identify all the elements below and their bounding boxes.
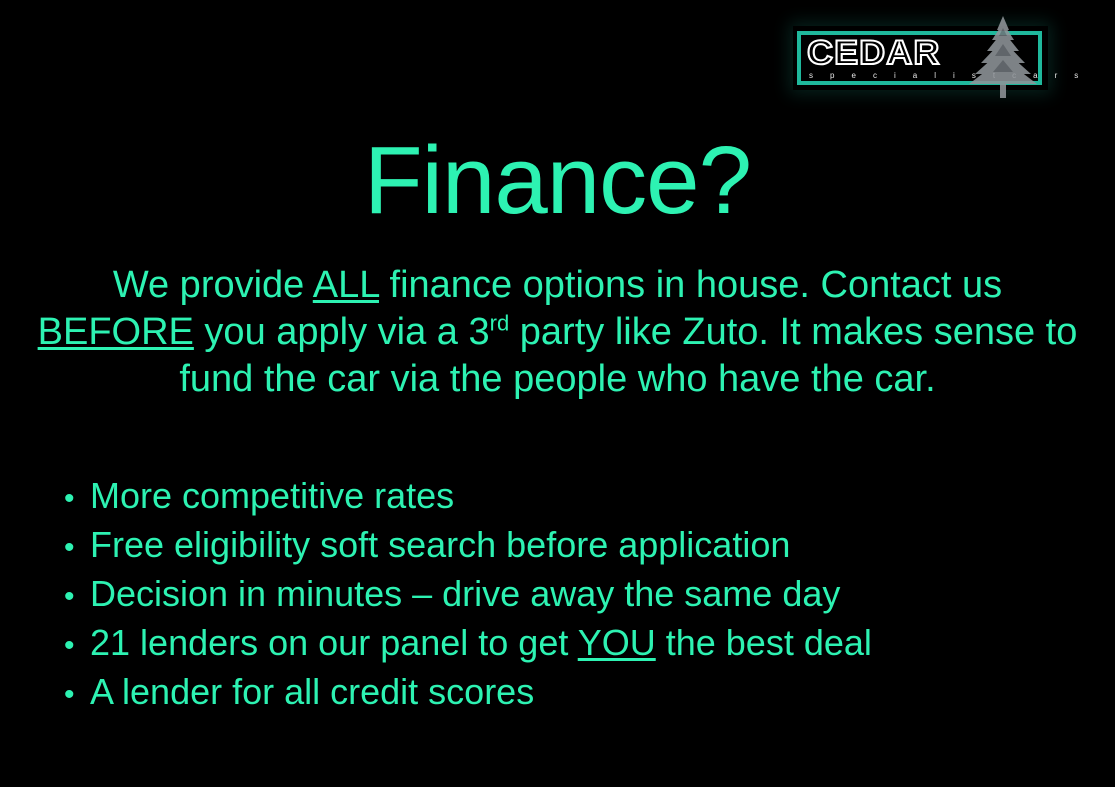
page-title: Finance? — [0, 125, 1115, 237]
paragraph-segment-2: finance options in house. Contact us — [379, 264, 1002, 306]
paragraph-segment-1: We provide — [113, 264, 313, 306]
list-item-text-post: the best deal — [656, 622, 872, 663]
list-item-text-pre: More competitive rates — [90, 475, 454, 516]
list-item-text-emphasis: YOU — [578, 622, 656, 663]
bullet-dot-icon: • — [64, 621, 90, 670]
slide-canvas: CEDAR s p e c i a l i s t c a r s Financ… — [0, 0, 1115, 787]
paragraph-segment-3: you apply via a 3 — [194, 311, 490, 353]
list-item: • A lender for all credit scores — [64, 667, 1044, 716]
list-item-label: Free eligibility soft search before appl… — [90, 520, 790, 569]
list-item-label: More competitive rates — [90, 471, 454, 520]
list-item: • More competitive rates — [64, 471, 1044, 520]
paragraph-emphasis-before: BEFORE — [38, 311, 194, 353]
list-item-label: 21 lenders on our panel to get YOU the b… — [90, 618, 872, 667]
list-item-label: A lender for all credit scores — [90, 667, 534, 716]
bullet-dot-icon: • — [64, 670, 90, 719]
intro-paragraph: We provide ALL finance options in house.… — [36, 262, 1079, 403]
bullet-dot-icon: • — [64, 474, 90, 523]
bullet-dot-icon: • — [64, 572, 90, 621]
benefits-bullet-list: • More competitive rates • Free eligibil… — [64, 471, 1044, 716]
list-item-label: Decision in minutes – drive away the sam… — [90, 569, 840, 618]
list-item-text-pre: Decision in minutes – drive away the sam… — [90, 573, 840, 614]
list-item-text-pre: A lender for all credit scores — [90, 671, 534, 712]
cedar-specialist-cars-logo[interactable]: CEDAR s p e c i a l i s t c a r s — [797, 14, 1055, 96]
list-item: • Free eligibility soft search before ap… — [64, 520, 1044, 569]
paragraph-ordinal-suffix: rd — [490, 310, 510, 335]
list-item: • 21 lenders on our panel to get YOU the… — [64, 618, 1044, 667]
list-item-text-pre: Free eligibility soft search before appl… — [90, 524, 790, 565]
cedar-tree-icon — [955, 14, 1051, 100]
list-item-text-pre: 21 lenders on our panel to get — [90, 622, 578, 663]
bullet-dot-icon: • — [64, 523, 90, 572]
list-item: • Decision in minutes – drive away the s… — [64, 569, 1044, 618]
paragraph-emphasis-all: ALL — [313, 264, 379, 306]
